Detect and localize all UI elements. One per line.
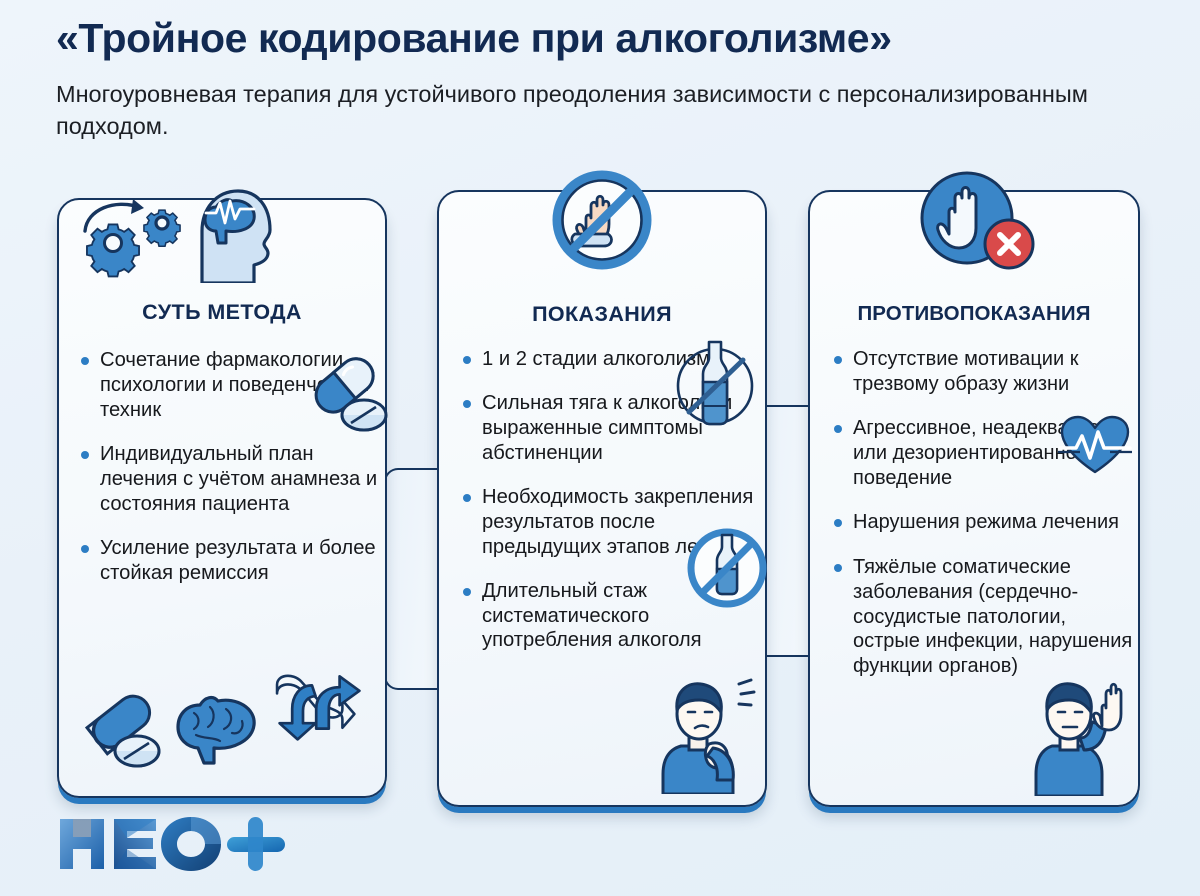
- list-item: Сочетание фармакологии, психологии и пов…: [79, 348, 379, 423]
- neo-plus-logo[interactable]: НЕО+: [58, 815, 288, 873]
- list-item: Усиление результата и более стойкая реми…: [79, 536, 379, 586]
- list-item: Сильная тяга к алкоголю и выраженные сим…: [461, 391, 759, 466]
- card-contraindications[interactable]: ПРОТИВОПОКАЗАНИЯ Отсутствие мотивации к …: [808, 190, 1140, 807]
- list-item: Нарушения режима лечения: [832, 510, 1134, 535]
- list-item: Длительный стаж систематического употреб…: [461, 579, 759, 654]
- card-method[interactable]: СУТЬ МЕТОДА Сочетание фармакологии, псих…: [57, 198, 387, 798]
- card-title-method: СУТЬ МЕТОДА: [59, 300, 385, 325]
- list-item: Необходимость закрепления результатов по…: [461, 485, 759, 560]
- pill-capsule-tablet-icon: [79, 683, 175, 780]
- shuffle-arrows-icon: [267, 665, 379, 762]
- stop-hand-red-x-icon: [913, 164, 1035, 281]
- no-hand-prohibition-icon: [546, 164, 658, 281]
- bullet-list-method: Сочетание фармакологии, психологии и пов…: [79, 348, 379, 605]
- card-indications[interactable]: ПОКАЗАНИЯ 1 и 2 стадии алкоголизма Сильн…: [437, 190, 767, 807]
- list-item: 1 и 2 стадии алкоголизма: [461, 347, 759, 372]
- worried-person-icon: [655, 670, 767, 799]
- logo-text: НЕО+: [288, 815, 289, 816]
- brain-icon: [174, 689, 260, 778]
- page-header: «Тройное кодирование при алкоголизме» Мн…: [56, 16, 1156, 142]
- bullet-list-contraindications: Отсутствие мотивации к трезвому образу ж…: [832, 347, 1134, 699]
- card-title-indications: ПОКАЗАНИЯ: [439, 302, 765, 327]
- list-item: Индивидуальный план лечения с учётом ана…: [79, 442, 379, 517]
- bullet-list-indications: 1 и 2 стадии алкоголизма Сильная тяга к …: [461, 347, 759, 672]
- list-item: Агрессивное, неадекватное или дезориенти…: [832, 416, 1134, 490]
- connector-notch-indications: [384, 468, 440, 690]
- card-title-contraindications: ПРОТИВОПОКАЗАНИЯ: [810, 302, 1138, 326]
- list-item: Отсутствие мотивации к трезвому образу ж…: [832, 347, 1134, 396]
- page-subtitle: Многоуровневая терапия для устойчивого п…: [56, 79, 1146, 142]
- gears-head-brain-icon: [73, 183, 293, 288]
- card-grid: СУТЬ МЕТОДА Сочетание фармакологии, псих…: [0, 190, 1200, 815]
- page-title: «Тройное кодирование при алкоголизме»: [56, 16, 1156, 61]
- list-item: Тяжёлые соматические заболевания (сердеч…: [832, 555, 1134, 678]
